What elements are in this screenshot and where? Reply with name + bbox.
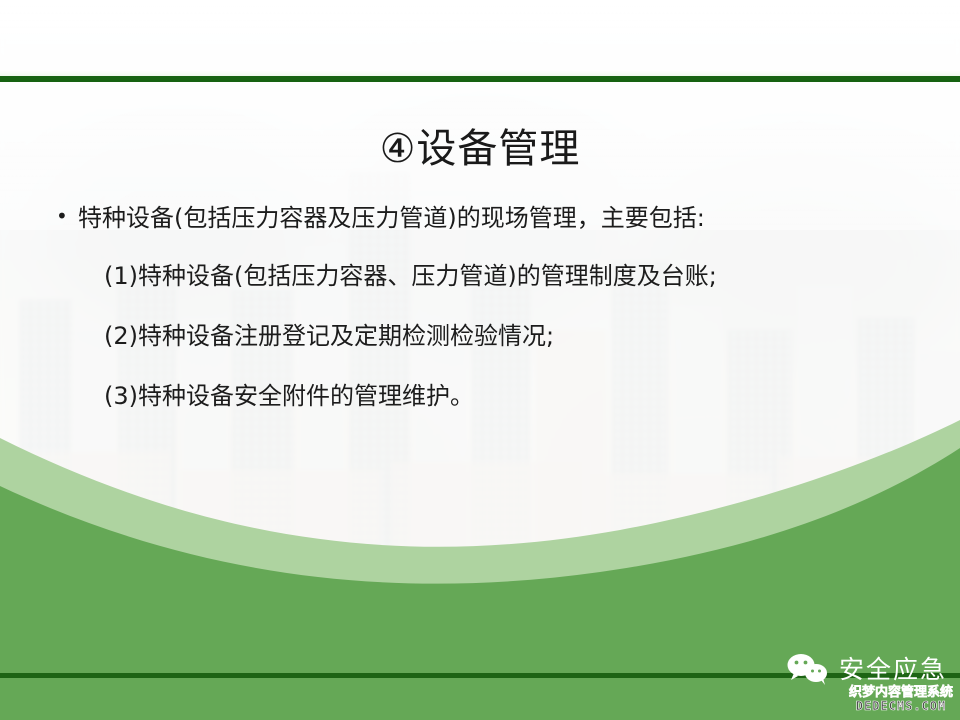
slide-title: ④设备管理	[0, 126, 960, 172]
sub-item-3: (3)特种设备安全附件的管理维护。	[104, 381, 906, 411]
bullet-dot-icon: •	[56, 203, 78, 230]
dedecms-watermark: 织梦内容管理系统 DEDECMS.COM	[843, 686, 959, 712]
sub-item-1: (1)特种设备(包括压力容器、压力管道)的管理制度及台账;	[104, 261, 906, 291]
wechat-label: 安全应急	[839, 657, 947, 682]
slide-body: • 特种设备(包括压力容器及压力管道)的现场管理，主要包括: (1)特种设备(包…	[56, 203, 906, 411]
watermark-cn-text: 织梦内容管理系统	[843, 686, 959, 700]
bullet-item: • 特种设备(包括压力容器及压力管道)的现场管理，主要包括:	[56, 203, 906, 233]
slide: ④设备管理 • 特种设备(包括压力容器及压力管道)的现场管理，主要包括: (1)…	[0, 0, 960, 720]
slide-content: ④设备管理 • 特种设备(包括压力容器及压力管道)的现场管理，主要包括: (1)…	[0, 0, 960, 720]
sub-item-2: (2)特种设备注册登记及定期检测检验情况;	[104, 321, 906, 351]
bullet-item-text: 特种设备(包括压力容器及压力管道)的现场管理，主要包括:	[78, 203, 906, 233]
watermark-en-text: DEDECMS.COM	[843, 700, 959, 713]
wechat-branding-badge: 安全应急	[786, 652, 947, 686]
wechat-icon	[786, 652, 830, 686]
